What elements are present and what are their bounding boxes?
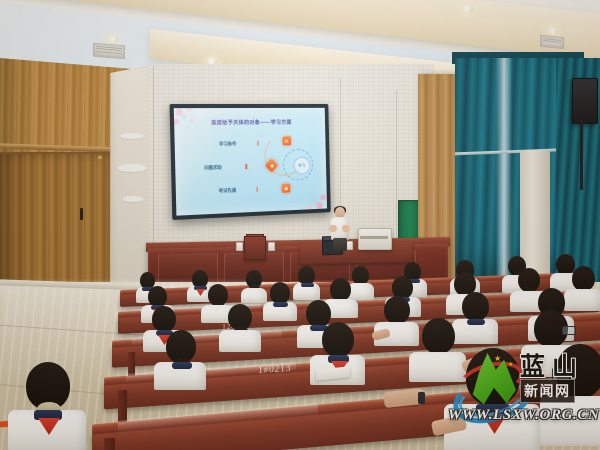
student-uniform <box>564 289 600 311</box>
student-head <box>306 300 331 327</box>
stone-ornament <box>118 164 146 172</box>
student-head <box>330 278 351 301</box>
recessed-downlight <box>462 5 473 12</box>
stone-ornament <box>123 196 143 202</box>
projection-screen-surface: 高度给予天体的对象——学习方面 学习条件 问题求助 考试先通 学习 ▤ ▣ <box>174 108 327 216</box>
presenter-desk <box>300 242 412 264</box>
student-head <box>270 282 290 304</box>
photo-screenshot: 高度给予天体的对象——学习方面 学习条件 问题求助 考试先通 学习 ▤ ▣ <box>0 0 600 450</box>
recessed-downlight <box>108 36 118 43</box>
student-head <box>384 296 410 324</box>
screen-glare <box>174 108 327 216</box>
student-collar <box>172 362 192 369</box>
wall-panel-seam <box>396 90 397 250</box>
wristband <box>418 392 425 404</box>
student-head <box>322 322 354 357</box>
ceiling-air-vent <box>540 35 564 50</box>
logo-star: ★ <box>494 355 501 363</box>
student-collar <box>273 302 288 307</box>
curtain-light-gap <box>496 58 512 283</box>
door-handle[interactable] <box>80 208 83 220</box>
bench-seat-number: 1#0213 <box>258 363 291 376</box>
stage-chair[interactable] <box>244 236 266 260</box>
student-head <box>572 266 595 291</box>
presenter <box>327 207 353 251</box>
student-collar <box>301 283 314 287</box>
student-head <box>462 292 489 321</box>
student-collar <box>467 319 485 325</box>
watermark-url: WWW.LSXW.ORG.CN <box>448 407 600 424</box>
door-hinge-top <box>98 156 102 159</box>
presenter-legs <box>333 238 347 251</box>
ceiling-air-vent <box>93 43 125 60</box>
watermark-section-label: 新闻网 <box>520 379 575 403</box>
wall-speaker <box>572 78 598 124</box>
speaker-mount <box>580 120 583 190</box>
student-head <box>152 306 176 332</box>
rear-wood-door[interactable] <box>0 152 114 290</box>
water-cup <box>236 242 243 251</box>
projection-screen-frame: 高度给予天体的对象——学习方面 学习条件 问题求助 考试先通 学习 ▤ ▣ <box>169 104 330 220</box>
recessed-downlight <box>548 28 558 35</box>
eyeglasses <box>562 326 576 335</box>
stone-ornament <box>121 133 143 139</box>
student-uniform <box>219 330 261 352</box>
student-uniform <box>241 288 267 303</box>
logo-star: ★ <box>508 361 513 369</box>
water-cup <box>268 242 275 251</box>
bench-leg <box>104 438 115 450</box>
lanshan-news-watermark: ★ ★ 蓝山 新闻网 WWW.LSXW.ORG.CN <box>448 345 600 440</box>
equipment-box-slot <box>360 236 388 239</box>
student-head <box>148 286 167 307</box>
stage-panel-detail <box>158 253 218 284</box>
white-equipment-box <box>358 228 392 250</box>
student-head <box>556 254 575 275</box>
lanshan-news-logo: ★ ★ <box>452 351 530 413</box>
student-uniform <box>347 283 374 300</box>
presenter-arm-right <box>342 224 351 232</box>
